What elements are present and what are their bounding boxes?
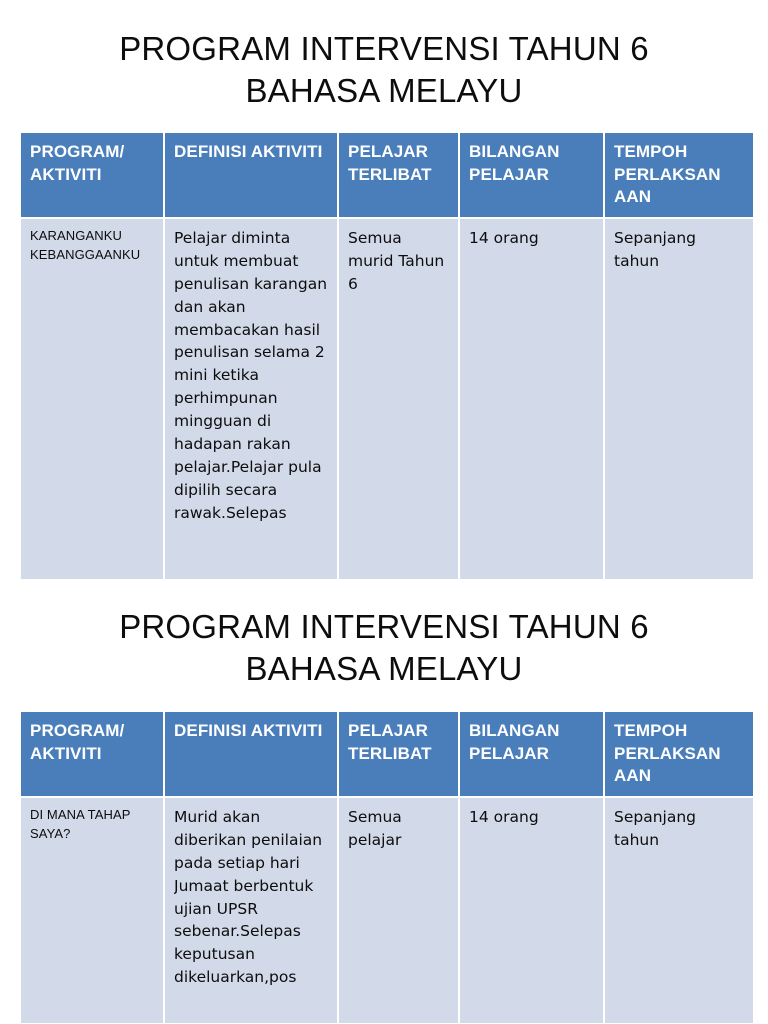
table-1-header-row: PROGRAM/ AKTIVITI DEFINISI AKTIVITI PELA… — [21, 133, 753, 216]
table-2-cell-bilangan-pelajar-text: 14 orang — [469, 806, 594, 1015]
table-1-cell-program: KARANGANKU KEBANGGAANKU — [21, 219, 163, 579]
table-2-header-program: PROGRAM/ AKTIVITI — [21, 712, 163, 795]
table-2-cell-tempoh: Sepanjang tahun — [605, 798, 753, 1023]
table-1-cell-tempoh: Sepanjang tahun — [605, 219, 753, 579]
table-2-header-tempoh: TEMPOH PERLAKSAN AAN — [605, 712, 753, 795]
table-2-header-definisi: DEFINISI AKTIVITI — [165, 712, 337, 795]
table-1-header-pelajar-terlibat: PELAJAR TERLIBAT — [339, 133, 458, 216]
table-2-header-row: PROGRAM/ AKTIVITI DEFINISI AKTIVITI PELA… — [21, 712, 753, 795]
table-2-cell-program: DI MANA TAHAP SAYA? — [21, 798, 163, 1023]
table-2-header-pelajar-terlibat: PELAJAR TERLIBAT — [339, 712, 458, 795]
table-row: KARANGANKU KEBANGGAANKU Pelajar diminta … — [21, 219, 753, 579]
table-2-body: DI MANA TAHAP SAYA? Murid akan diberikan… — [21, 798, 753, 1023]
table-1-header-definisi: DEFINISI AKTIVITI — [165, 133, 337, 216]
table-2-cell-tempoh-text: Sepanjang tahun — [614, 806, 744, 1015]
table-row: DI MANA TAHAP SAYA? Murid akan diberikan… — [21, 798, 753, 1023]
slide-1: PROGRAM INTERVENSI TAHUN 6 BAHASA MELAYU… — [0, 0, 768, 592]
table-2-cell-pelajar-terlibat-text: Semua pelajar — [348, 806, 449, 1015]
slide-1-table-wrap: PROGRAM/ AKTIVITI DEFINISI AKTIVITI PELA… — [21, 131, 747, 580]
table-1-cell-tempoh-text: Sepanjang tahun — [614, 227, 744, 571]
slide-2-table-wrap: PROGRAM/ AKTIVITI DEFINISI AKTIVITI PELA… — [21, 710, 747, 1024]
program-table-1: PROGRAM/ AKTIVITI DEFINISI AKTIVITI PELA… — [19, 131, 755, 580]
table-1-cell-definisi: Pelajar diminta untuk membuat penulisan … — [165, 219, 337, 579]
table-1-cell-definisi-text: Pelajar diminta untuk membuat penulisan … — [174, 227, 328, 571]
table-1-cell-program-text: KARANGANKU KEBANGGAANKU — [30, 227, 154, 571]
table-2-cell-program-text: DI MANA TAHAP SAYA? — [30, 806, 154, 1015]
table-1-body: KARANGANKU KEBANGGAANKU Pelajar diminta … — [21, 219, 753, 579]
table-1-cell-pelajar-terlibat-text: Semua murid Tahun 6 — [348, 227, 449, 571]
table-1-cell-bilangan-pelajar: 14 orang — [460, 219, 603, 579]
slide-2: PROGRAM INTERVENSI TAHUN 6 BAHASA MELAYU… — [0, 592, 768, 1024]
table-1-cell-bilangan-pelajar-text: 14 orang — [469, 227, 594, 571]
table-1-header-bilangan-pelajar: BILANGAN PELAJAR — [460, 133, 603, 216]
table-2-cell-definisi: Murid akan diberikan penilaian pada seti… — [165, 798, 337, 1023]
table-2-cell-bilangan-pelajar: 14 orang — [460, 798, 603, 1023]
table-1-cell-pelajar-terlibat: Semua murid Tahun 6 — [339, 219, 458, 579]
slide-2-title: PROGRAM INTERVENSI TAHUN 6 BAHASA MELAYU — [0, 592, 768, 690]
table-2-cell-definisi-text: Murid akan diberikan penilaian pada seti… — [174, 806, 328, 1015]
table-2-header-bilangan-pelajar: BILANGAN PELAJAR — [460, 712, 603, 795]
table-2-cell-pelajar-terlibat: Semua pelajar — [339, 798, 458, 1023]
table-1-header-tempoh: TEMPOH PERLAKSAN AAN — [605, 133, 753, 216]
program-table-2: PROGRAM/ AKTIVITI DEFINISI AKTIVITI PELA… — [19, 710, 755, 1024]
table-1-header-program: PROGRAM/ AKTIVITI — [21, 133, 163, 216]
slide-1-title: PROGRAM INTERVENSI TAHUN 6 BAHASA MELAYU — [0, 0, 768, 112]
